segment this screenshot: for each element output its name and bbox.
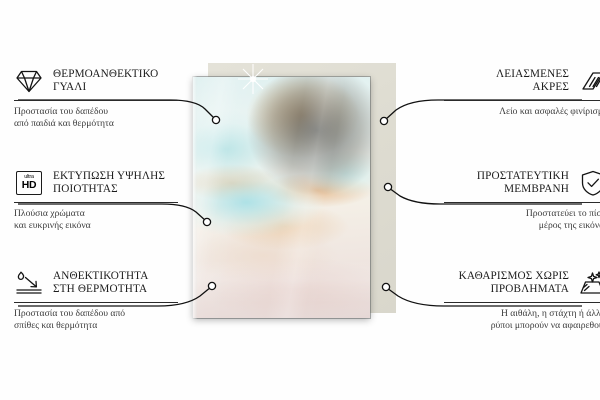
feature-protective-membrane: ΠΡΟΣΤΑΤΕΥΤΙΚΗ ΜΕΜΒΡΑΝΗ Προστατεύει το πί… xyxy=(430,168,600,231)
feature-head: ΚΑΘΑΡΙΣΜΟΣ ΧΩΡΙΣ ΠΡΟΒΛΗΜΑΤΑ xyxy=(430,268,600,298)
feature-description: Προστασία του δαπέδου από παιδιά και θερ… xyxy=(14,106,192,129)
feature-polished-edges: ΛΕΙΑΣΜΕΝΕΣ ΑΚΡΕΣ Λείο και ασφαλές φινίρι… xyxy=(430,66,600,118)
ultra-hd-icon: ultra HD xyxy=(14,169,44,197)
heat-resistance-icon xyxy=(14,269,44,297)
feature-description: Η αιθάλη, η στάχτη ή άλλοι ρύποι μπορούν… xyxy=(430,308,600,331)
feature-divider xyxy=(444,202,600,203)
feature-description: Λείο και ασφαλές φινίρισμα xyxy=(430,106,600,118)
feature-divider xyxy=(444,302,600,303)
feature-head: ΘΕΡΜΟΑΝΘΕΚΤΙΚΟ ΓΥΑΛΙ xyxy=(14,66,192,96)
feature-divider xyxy=(14,100,178,101)
product-glass-panel xyxy=(193,77,370,318)
feature-title: ΘΕΡΜΟΑΝΘΕΚΤΙΚΟ ΓΥΑΛΙ xyxy=(53,68,158,95)
feature-divider xyxy=(14,302,178,303)
easy-clean-icon xyxy=(578,269,600,297)
feature-heat-durability: ΑΝΘΕΚΤΙΚΟΤΗΤΑ ΣΤΗ ΘΕΡΜΟΤΗΤΑ Προστασία το… xyxy=(14,268,192,331)
feature-title: ΚΑΘΑΡΙΣΜΟΣ ΧΩΡΙΣ ΠΡΟΒΛΗΜΑΤΑ xyxy=(459,270,569,297)
feature-divider xyxy=(444,100,600,101)
feature-title: ΠΡΟΣΤΑΤΕΥΤΙΚΗ ΜΕΜΒΡΑΝΗ xyxy=(477,170,569,197)
feature-description: Πλούσια χρώματα και ευκρινής εικόνα xyxy=(14,208,192,231)
feature-head: ΠΡΟΣΤΑΤΕΥΤΙΚΗ ΜΕΜΒΡΑΝΗ xyxy=(430,168,600,198)
polished-edges-icon xyxy=(578,67,600,95)
feature-head: ΑΝΘΕΚΤΙΚΟΤΗΤΑ ΣΤΗ ΘΕΡΜΟΤΗΤΑ xyxy=(14,268,192,298)
feature-high-quality-print: ultra HD ΕΚΤΥΠΩΣΗ ΥΨΗΛΗΣ ΠΟΙΟΤΗΤΑΣ Πλούσ… xyxy=(14,168,192,231)
feature-divider xyxy=(14,202,178,203)
feature-title: ΑΝΘΕΚΤΙΚΟΤΗΤΑ ΣΤΗ ΘΕΡΜΟΤΗΤΑ xyxy=(53,270,149,297)
diamond-icon xyxy=(14,67,44,95)
feature-description: Προστασία του δαπέδου από σπίθες και θερ… xyxy=(14,308,192,331)
ultra-hd-bottom-label: HD xyxy=(22,181,36,191)
feature-heat-resistant-glass: ΘΕΡΜΟΑΝΘΕΚΤΙΚΟ ΓΥΑΛΙ Προστασία του δαπέδ… xyxy=(14,66,192,129)
shield-check-icon xyxy=(578,169,600,197)
infographic-canvas: ΘΕΡΜΟΑΝΘΕΚΤΙΚΟ ΓΥΑΛΙ Προστασία του δαπέδ… xyxy=(0,0,600,400)
feature-title: ΕΚΤΥΠΩΣΗ ΥΨΗΛΗΣ ΠΟΙΟΤΗΤΑΣ xyxy=(53,170,165,197)
feature-easy-cleaning: ΚΑΘΑΡΙΣΜΟΣ ΧΩΡΙΣ ΠΡΟΒΛΗΜΑΤΑ Η αιθάλη, η … xyxy=(430,268,600,331)
feature-description: Προστατεύει το πίσω μέρος της εικόνας xyxy=(430,208,600,231)
feature-head: ΛΕΙΑΣΜΕΝΕΣ ΑΚΡΕΣ xyxy=(430,66,600,96)
feature-title: ΛΕΙΑΣΜΕΝΕΣ ΑΚΡΕΣ xyxy=(496,68,569,95)
feature-head: ultra HD ΕΚΤΥΠΩΣΗ ΥΨΗΛΗΣ ΠΟΙΟΤΗΤΑΣ xyxy=(14,168,192,198)
